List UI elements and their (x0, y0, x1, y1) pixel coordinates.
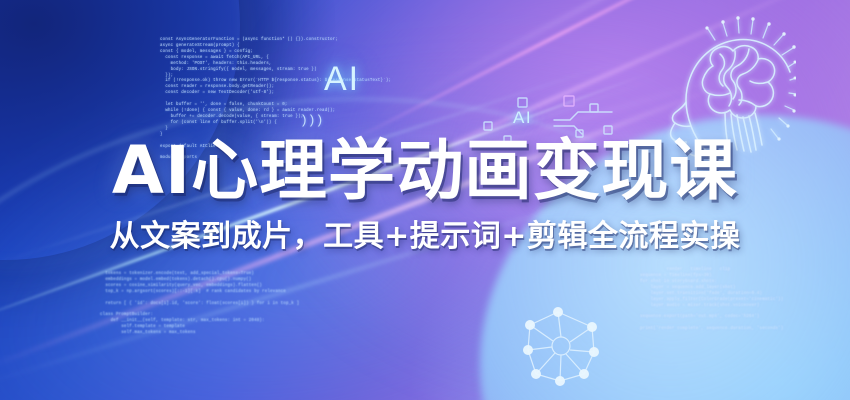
page-title: AI心理学动画变现课 (112, 138, 738, 204)
ai-label-small: AI (513, 108, 532, 128)
course-banner: const AsyncGeneratorFunction = (async fu… (0, 0, 850, 400)
code-overlay-bottom-left: tokens = tokenizer.encode(text, add_spec… (100, 272, 299, 337)
headline-container: AI心理学动画变现课 (0, 138, 850, 204)
code-brace-glyph: ))) (300, 113, 323, 128)
ai-label-large: AI (324, 60, 360, 99)
subheadline-container: 从文案到成片，工具+提示词+剪辑全流程实操 (0, 222, 850, 252)
page-subtitle: 从文案到成片，工具+提示词+剪辑全流程实操 (110, 222, 741, 252)
network-nodes-icon (508, 298, 614, 394)
